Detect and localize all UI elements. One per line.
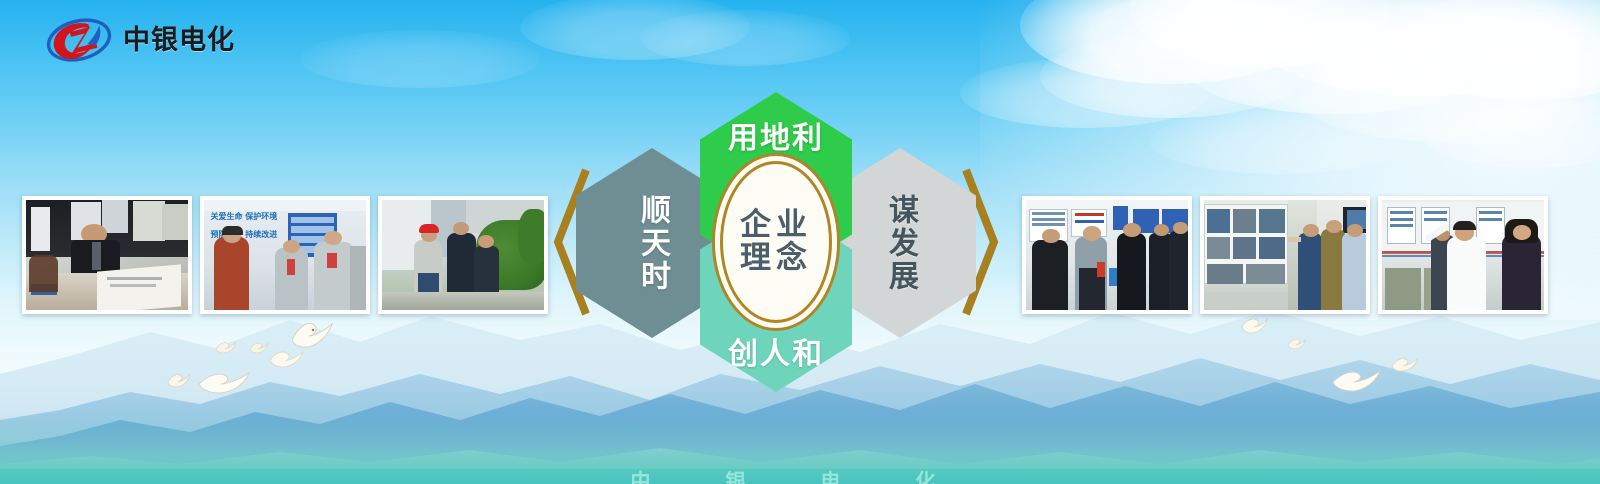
core-label-line1: 企业 (740, 209, 812, 242)
photo-thumbnail[interactable] (1022, 196, 1192, 314)
photo-thumbnail[interactable]: 关爱生命 保护环境 预防为主 持续改进 (200, 196, 370, 314)
company-logo[interactable]: 中银电化 (46, 16, 235, 64)
hexagon-right-label: 谋发展 (878, 194, 922, 293)
zhongyin-dianhua-emblem-icon (46, 16, 112, 64)
core-label-line2: 理念 (740, 242, 812, 275)
dove-icon (1240, 316, 1270, 340)
company-name-label: 中银电化 (123, 27, 235, 54)
bottom-color-band: 中 银 电 化 (0, 469, 1600, 484)
bottom-band-text: 中 银 电 化 (0, 471, 1600, 484)
dove-icon (1330, 368, 1382, 398)
dove-icon (166, 372, 192, 394)
corporate-philosophy-hexagon-diagram: 顺天时 谋发展 用地利 创人和 企业 理念 (552, 92, 1000, 392)
dove-icon (268, 348, 306, 374)
dove-icon (214, 340, 238, 360)
photo-thumbnail[interactable] (22, 196, 192, 314)
dove-icon (248, 340, 270, 359)
company-culture-banner: 中银电化 (0, 0, 1600, 484)
dove-icon (196, 370, 252, 400)
photo-thumbnail[interactable] (378, 196, 548, 314)
photo-thumbnail[interactable] (1378, 196, 1548, 314)
center-core-circle[interactable]: 企业 理念 (715, 156, 837, 328)
hexagon-top-label: 用地利 (728, 113, 824, 157)
hexagon-left-label: 顺天时 (630, 194, 674, 293)
photo-thumbnail[interactable] (1200, 196, 1370, 314)
hexagon-bottom-label: 创人和 (728, 329, 824, 373)
dove-icon (1390, 356, 1420, 378)
dove-icon (1286, 336, 1308, 355)
